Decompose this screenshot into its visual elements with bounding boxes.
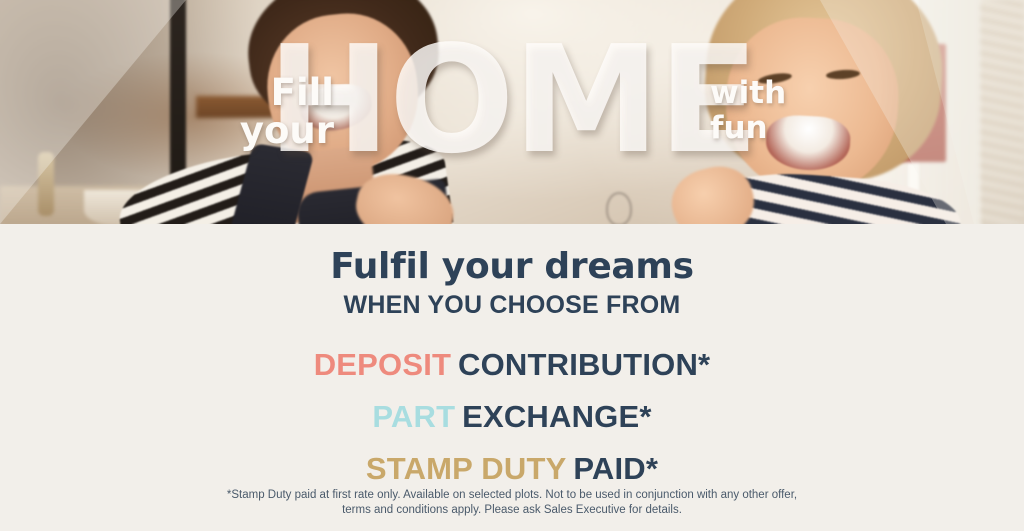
offer-highlight-part: PART [372,399,455,434]
page-title: Fulfil your dreams [0,247,1024,287]
offer-item-part-exchange: PARTEXCHANGE* [0,391,1024,443]
hero-section: HOME Fill your with fun [0,0,1024,224]
girl-hand [665,159,761,224]
hero-photo [0,0,1024,224]
whisk [606,192,632,224]
disclaimer-line-2: terms and conditions apply. Please ask S… [0,503,1024,518]
offer-highlight-deposit: DEPOSIT [314,347,451,382]
offer-item-deposit-contribution: DEPOSITCONTRIBUTION* [0,339,1024,391]
disclaimer-line-1: *Stamp Duty paid at first rate only. Ava… [0,488,1024,503]
offer-list: DEPOSITCONTRIBUTION* PARTEXCHANGE* STAMP… [0,339,1024,495]
offer-text-contribution: CONTRIBUTION* [458,347,710,382]
disclaimer: *Stamp Duty paid at first rate only. Ava… [0,488,1024,518]
promo-banner: HOME Fill your with fun Fulfil your drea… [0,0,1024,531]
background-wall-texture [980,0,1024,224]
offer-highlight-stamp-duty: STAMP DUTY [366,451,567,486]
offer-text-exchange: EXCHANGE* [462,399,652,434]
offer-section: Fulfil your dreams WHEN YOU CHOOSE FROM … [0,224,1024,531]
kitchen-utensil [38,152,54,216]
offer-text-paid: PAID* [573,451,658,486]
page-subtitle: WHEN YOU CHOOSE FROM [0,291,1024,319]
